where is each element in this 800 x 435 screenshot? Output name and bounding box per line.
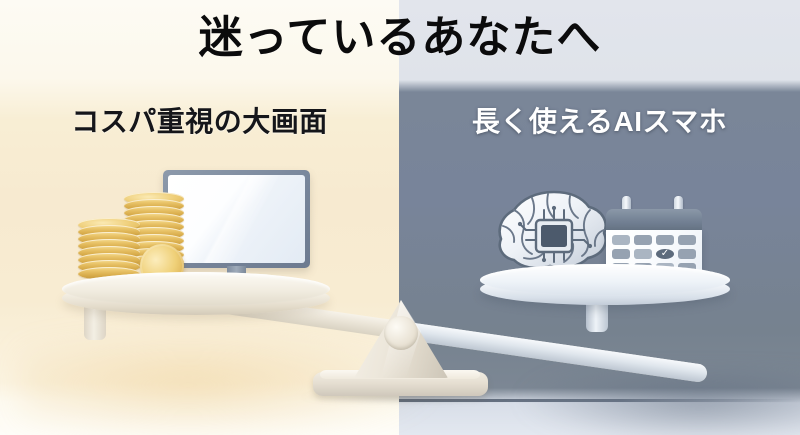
calendar-day-cell: [656, 235, 674, 245]
calendar-check-icon: ✓: [656, 249, 674, 259]
comparison-graphic: ✓ 迷っているあなたへ コスパ重視の大画面 長く使えるAIスマホ: [0, 0, 800, 435]
right-side-label: 長く使えるAIスマホ: [399, 102, 800, 142]
calendar-day-cell: [678, 249, 696, 259]
calendar-day-cell: [634, 235, 652, 245]
calendar-day-cell: [612, 235, 630, 245]
page-title: 迷っているあなたへ: [0, 12, 800, 64]
coin-stack-icon: [78, 192, 190, 284]
right-pan-rim: [480, 264, 730, 296]
left-scale-pan: [62, 272, 330, 306]
calendar-day-cell: [678, 235, 696, 245]
left-side-label: コスパ重視の大画面: [0, 102, 399, 142]
calendar-day-cell: [612, 249, 630, 259]
scale-pivot-knob: [384, 316, 418, 350]
right-scale-pan: [480, 264, 730, 296]
balance-scale-illustration: ✓: [0, 0, 800, 435]
left-pan-rim: [62, 272, 330, 306]
calendar-day-cell: [634, 249, 652, 259]
